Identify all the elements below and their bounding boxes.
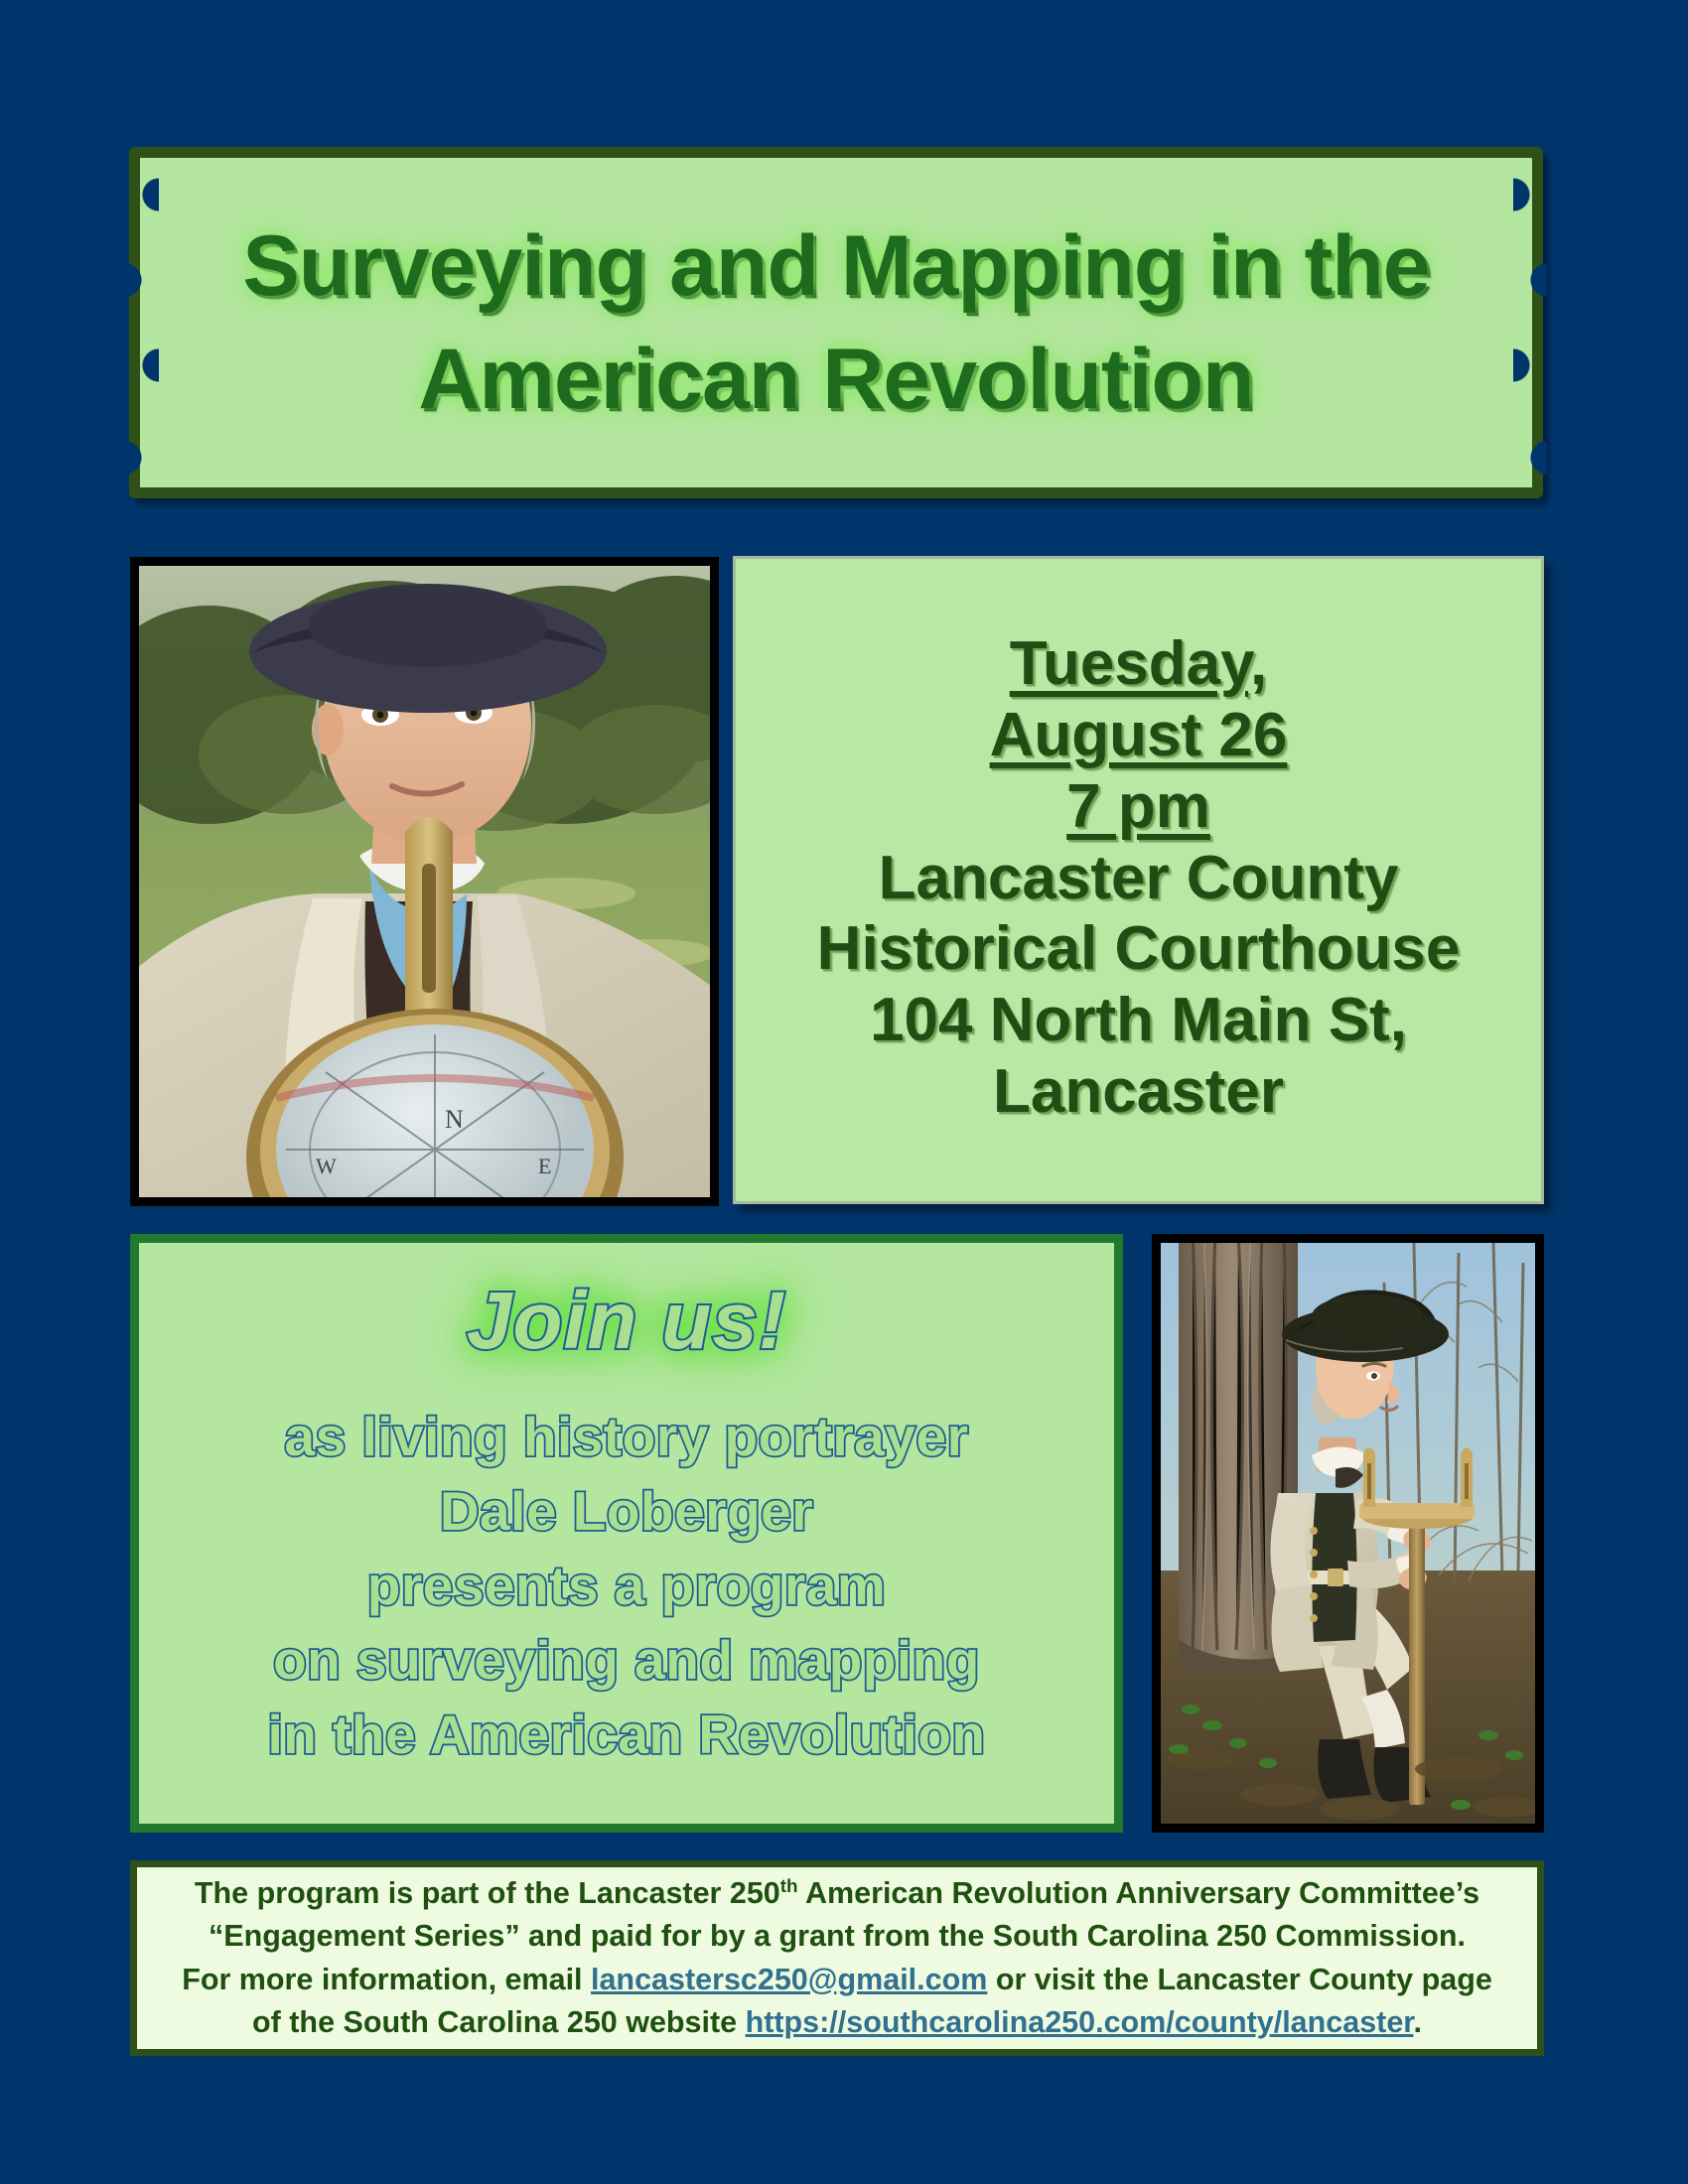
event-day: Tuesday, (1010, 628, 1268, 700)
venue-line-1: Lancaster County (879, 843, 1399, 914)
venue-line-2: Historical Courthouse (817, 913, 1461, 985)
surveyor-forest-photo-art (1161, 1243, 1535, 1824)
footer-line-1: The program is part of the Lancaster 250… (195, 1872, 1479, 1915)
footer-line-3-b: or visit the Lancaster County page (987, 1963, 1491, 1996)
footer-line-3: For more information, email lancastersc2… (182, 1959, 1492, 2001)
event-time: 7 pm (1066, 771, 1210, 843)
event-details-box: Tuesday, August 26 7 pm Lancaster County… (733, 556, 1544, 1204)
footer-ordinal-suffix: th (780, 1876, 798, 1897)
footer-line-4-b: . (1413, 2005, 1421, 2039)
website-link[interactable]: https://southcarolina250.com/county/lanc… (746, 2005, 1414, 2039)
join-line-4: on surveying and mapping (273, 1627, 980, 1694)
surveyor-forest-photo (1152, 1234, 1544, 1833)
footer-info-box: The program is part of the Lancaster 250… (130, 1860, 1544, 2056)
title-banner: Surveying and Mapping in the American Re… (129, 147, 1543, 498)
svg-text:N: N (445, 1105, 464, 1134)
surveyor-compass-photo-art: N W E (139, 566, 710, 1197)
join-us-headline: Join us! (467, 1281, 786, 1362)
join-us-description: as living history portrayer Dale Loberge… (267, 1404, 985, 1768)
presenter-name: Dale Loberger (440, 1478, 813, 1545)
join-us-box: Join us! as living history portrayer Dal… (130, 1234, 1123, 1833)
surveyor-compass-photo: N W E (130, 557, 719, 1206)
join-line-3: presents a program (367, 1553, 887, 1619)
footer-line-4: of the South Carolina 250 website https:… (252, 2001, 1422, 2044)
join-line-1: as living history portrayer (284, 1404, 968, 1470)
venue-address: 104 North Main St, (870, 985, 1407, 1056)
event-date: August 26 (990, 700, 1288, 771)
svg-text:E: E (538, 1154, 551, 1178)
footer-line-1-a: The program is part of the Lancaster 250 (195, 1876, 780, 1910)
footer-line-4-a: of the South Carolina 250 website (252, 2005, 746, 2039)
footer-line-2: “Engagement Series” and paid for by a gr… (209, 1915, 1466, 1958)
svg-text:W: W (316, 1154, 337, 1178)
page-title-line-1: Surveying and Mapping in the (242, 218, 1429, 314)
footer-line-3-a: For more information, email (182, 1963, 591, 1996)
footer-line-1-b: American Revolution Anniversary Committe… (798, 1876, 1479, 1910)
email-link[interactable]: lancastersc250@gmail.com (591, 1963, 987, 1996)
page-title-line-2: American Revolution (418, 332, 1253, 427)
page-title: Surveying and Mapping in the American Re… (129, 147, 1543, 498)
venue-city: Lancaster (993, 1056, 1284, 1128)
join-line-5: in the American Revolution (267, 1702, 985, 1768)
